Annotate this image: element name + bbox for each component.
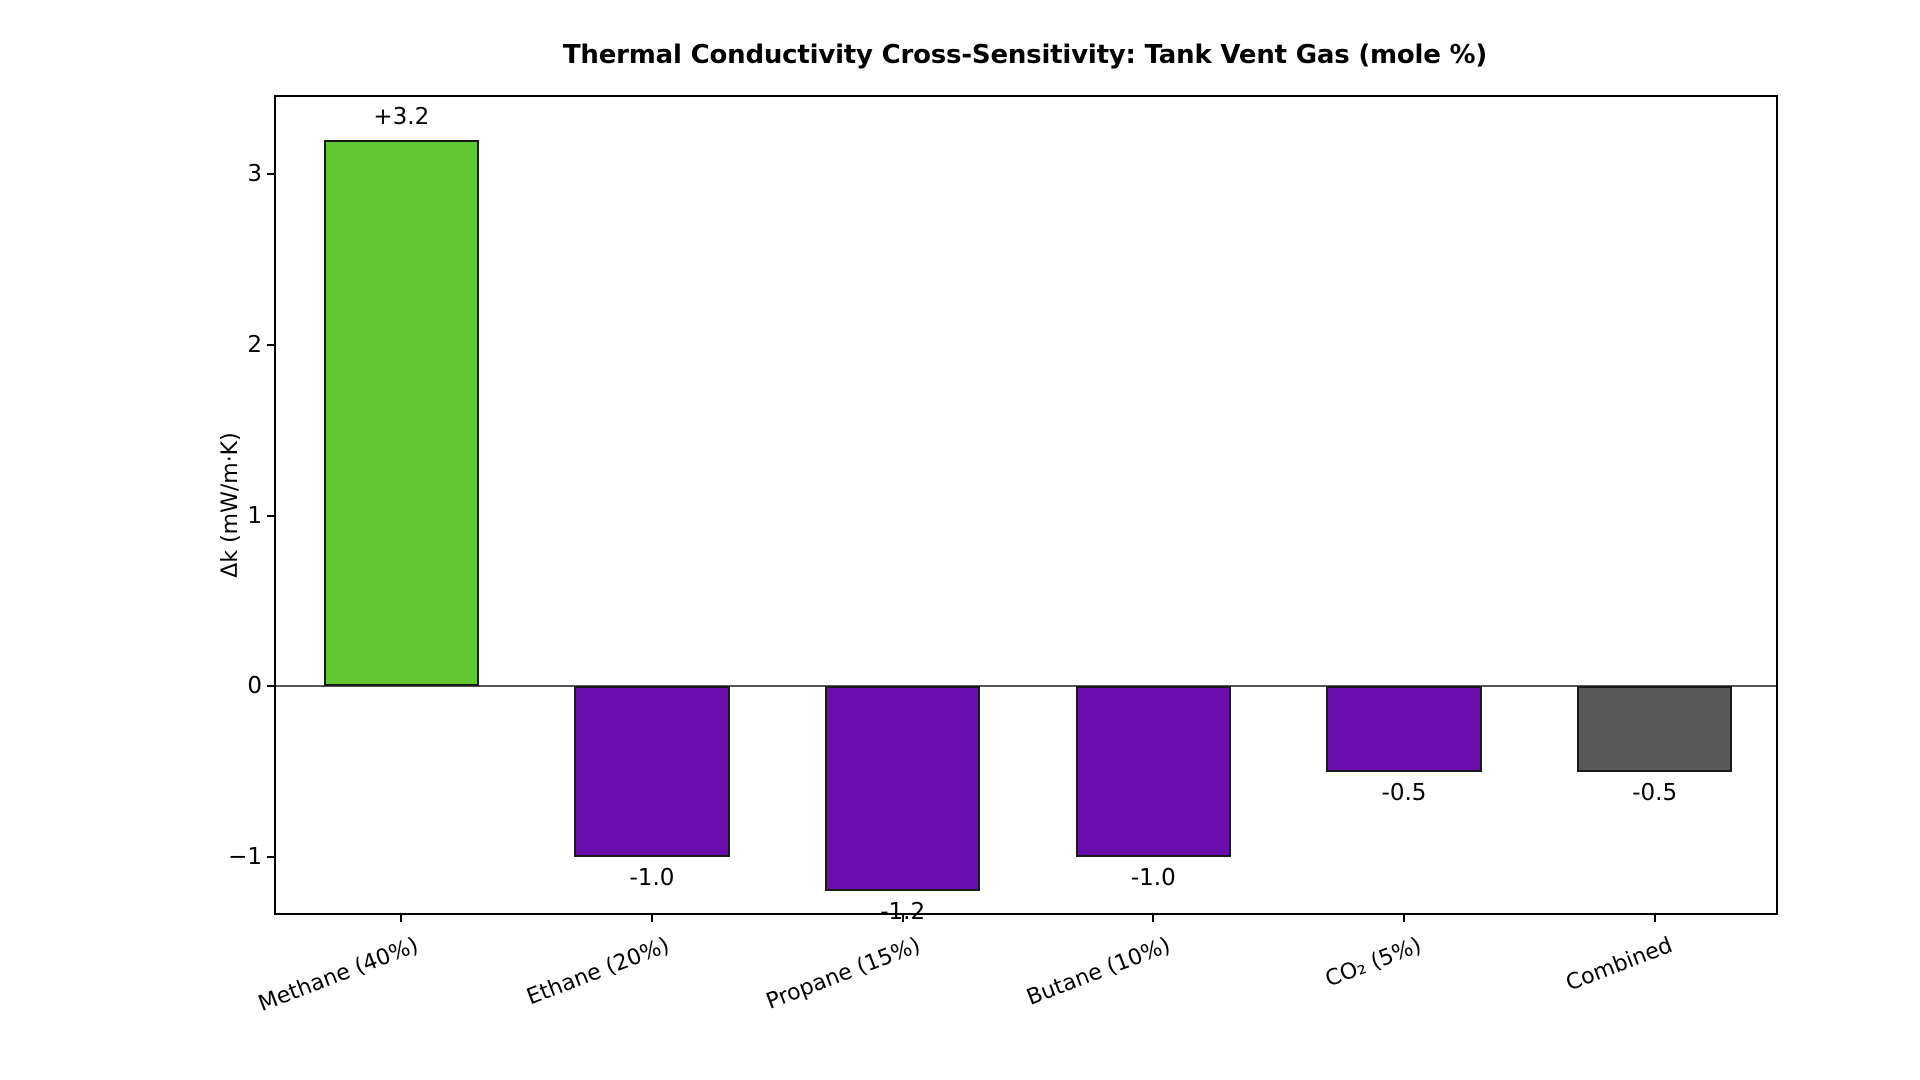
y-tick-label: 2 xyxy=(206,332,276,358)
bar[interactable] xyxy=(324,140,479,687)
y-tick-label: 1 xyxy=(206,503,276,529)
bar-value-label: -1.0 xyxy=(527,865,778,891)
y-tick-mark xyxy=(267,856,276,858)
x-tick-mark xyxy=(1152,913,1154,922)
y-tick-mark xyxy=(267,344,276,346)
bar[interactable] xyxy=(1076,686,1231,857)
bars-layer: +3.2-1.0-1.2-1.0-0.5-0.5 xyxy=(276,97,1776,913)
bar[interactable] xyxy=(1577,686,1732,771)
bar[interactable] xyxy=(1326,686,1481,771)
bar[interactable] xyxy=(825,686,980,891)
x-tick-label: Butane (10%) xyxy=(967,933,1174,1032)
x-tick-mark xyxy=(651,913,653,922)
x-tick-mark xyxy=(1403,913,1405,922)
bar-value-label: -0.5 xyxy=(1279,780,1530,806)
y-tick-mark xyxy=(267,685,276,687)
y-tick-label: 0 xyxy=(206,673,276,699)
bar-value-label: -1.0 xyxy=(1028,865,1279,891)
chart-title: Thermal Conductivity Cross-Sensitivity: … xyxy=(270,40,1780,70)
x-tick-mark xyxy=(400,913,402,922)
x-tick-label: Methane (40%) xyxy=(215,933,422,1032)
y-tick-label: 3 xyxy=(206,161,276,187)
y-tick-label: −1 xyxy=(206,844,276,870)
x-tick-mark xyxy=(1654,913,1656,922)
x-tick-label: Combined xyxy=(1469,933,1676,1032)
plot-area: Δk (mW/m·K) 3210−1 +3.2-1.0-1.2-1.0-0.5-… xyxy=(274,95,1778,915)
x-tick-label: CO₂ (5%) xyxy=(1218,933,1425,1032)
y-tick-mark xyxy=(267,515,276,517)
bar-value-label: -0.5 xyxy=(1529,780,1780,806)
x-tick-label: Ethane (20%) xyxy=(466,933,673,1032)
chart-figure: Thermal Conductivity Cross-Sensitivity: … xyxy=(0,0,1920,1080)
x-tick-label: Propane (15%) xyxy=(717,933,924,1032)
bar-value-label: +3.2 xyxy=(276,104,527,130)
bar[interactable] xyxy=(574,686,729,857)
x-tick-mark xyxy=(902,913,904,922)
y-tick-mark xyxy=(267,173,276,175)
